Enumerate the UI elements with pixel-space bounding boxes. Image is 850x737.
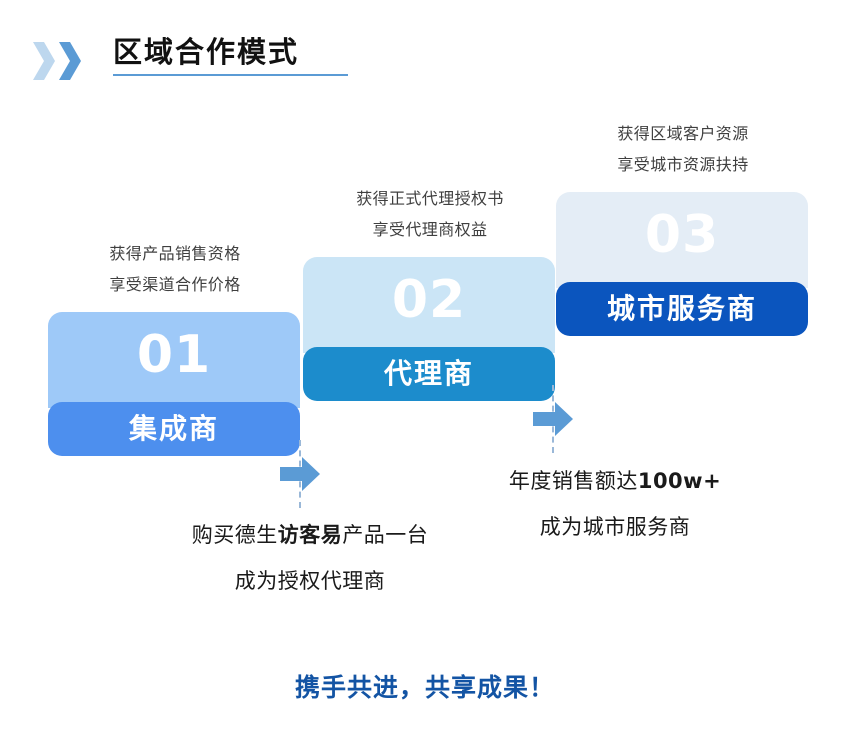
step-02-bar: 代理商 — [303, 347, 555, 401]
arrow-right-icon-1 — [280, 457, 320, 491]
title-underline — [113, 74, 348, 76]
connector-step-02-to-note — [533, 385, 593, 455]
note-2-line-2: 成为城市服务商 — [435, 504, 795, 550]
step-01-benefit-line-1: 获得产品销售资格 — [45, 238, 305, 269]
step-01-benefits: 获得产品销售资格 享受渠道合作价格 — [45, 238, 305, 300]
note-1-suffix: 产品一台 — [342, 523, 428, 547]
step-01-title: 集成商 — [48, 402, 300, 456]
step-01-benefit-line-2: 享受渠道合作价格 — [45, 269, 305, 300]
step-03-number: 03 — [556, 200, 808, 270]
note-2-strong: 100w+ — [638, 469, 721, 493]
note-1-prefix: 购买德生 — [192, 523, 278, 547]
step-03-benefit-line-2: 享受城市资源扶持 — [553, 149, 813, 180]
connector-step-01-to-note — [280, 440, 340, 510]
note-2-prefix: 年度销售额达 — [509, 469, 638, 493]
step-02-benefit-line-2: 享受代理商权益 — [300, 214, 560, 245]
arrow-right-icon-2 — [533, 402, 573, 436]
page-title-wrap: 区域合作模式 — [113, 32, 373, 76]
step-03-title: 城市服务商 — [556, 282, 808, 336]
footer-slogan: 携手共进，共享成果！ — [0, 668, 850, 704]
chevron-right-light-icon — [33, 42, 55, 80]
note-1-strong: 访客易 — [278, 523, 343, 547]
chevron-group — [33, 42, 101, 80]
step-02-card[interactable]: 02 代理商 — [303, 257, 555, 401]
step-01-card[interactable]: 01 集成商 — [48, 312, 300, 456]
step-01-card-body: 01 — [48, 312, 300, 408]
note-1-line-2: 成为授权代理商 — [130, 558, 490, 604]
step-01-bar: 集成商 — [48, 402, 300, 456]
step-03-benefit-line-1: 获得区域客户资源 — [553, 118, 813, 149]
step-02-number: 02 — [303, 265, 555, 335]
step-03-benefits: 获得区域客户资源 享受城市资源扶持 — [553, 118, 813, 180]
step-03-bar: 城市服务商 — [556, 282, 808, 336]
chevron-right-dark-icon — [59, 42, 81, 80]
step-02-benefit-line-1: 获得正式代理授权书 — [300, 183, 560, 214]
note-upgrade-to-city-provider: 年度销售额达100w+ 成为城市服务商 — [435, 458, 795, 550]
page-title: 区域合作模式 — [113, 32, 373, 72]
step-02-title: 代理商 — [303, 347, 555, 401]
note-2-line-1: 年度销售额达100w+ — [435, 458, 795, 504]
step-03-card-body: 03 — [556, 192, 808, 288]
step-02-card-body: 02 — [303, 257, 555, 353]
step-03-card[interactable]: 03 城市服务商 — [556, 192, 808, 336]
step-02-benefits: 获得正式代理授权书 享受代理商权益 — [300, 183, 560, 245]
step-01-number: 01 — [48, 320, 300, 390]
page-header: 区域合作模式 — [0, 32, 850, 94]
